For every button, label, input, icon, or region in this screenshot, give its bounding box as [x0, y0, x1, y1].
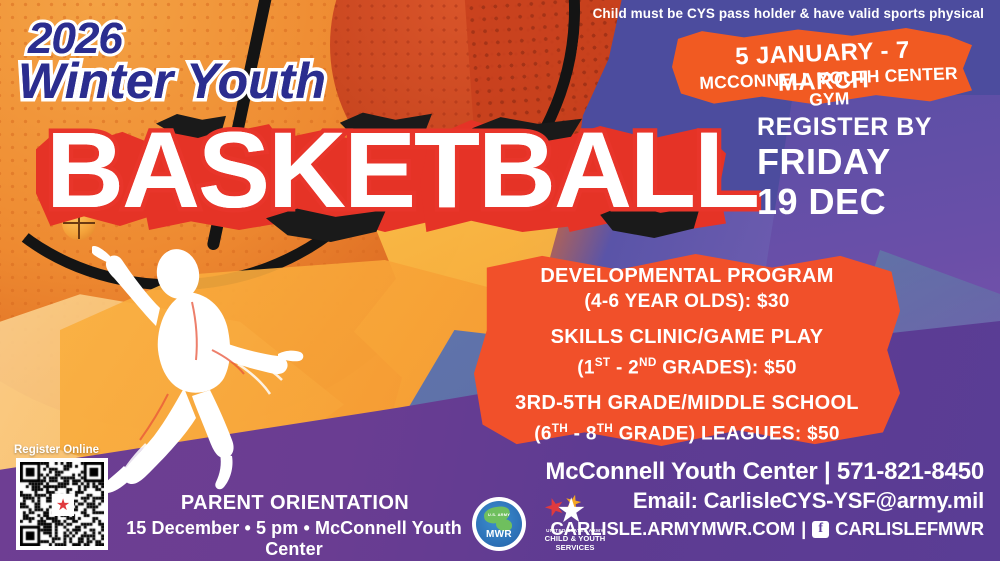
cys-star-icon: ★ — [52, 494, 74, 516]
program-pricing-list: DEVELOPMENTAL PROGRAM (4-6 YEAR OLDS): $… — [474, 264, 900, 447]
parent-orientation-title: PARENT ORIENTATION — [120, 492, 470, 515]
register-by-label: REGISTER BY — [757, 112, 932, 142]
register-by-day: FRIDAY — [757, 142, 932, 182]
contact-email: Email: CarlisleCYS-YSF@army.mil — [633, 488, 984, 514]
contact-center-and-phone: McConnell Youth Center | 571-821-8450 — [545, 458, 984, 486]
contact-web-and-social: CARLISLE.ARMYMWR.COM | f CARLISLEFMWR — [550, 518, 984, 540]
separator: | — [801, 518, 806, 540]
mwr-logo-subtitle: U.S. ARMY — [476, 512, 522, 517]
program-name: 3RD-5TH GRADE/MIDDLE SCHOOL — [474, 391, 900, 416]
parent-orientation-details: 15 December • 5 pm • McConnell Youth Cen… — [104, 518, 484, 560]
program-detail: (6TH - 8TH GRADE) LEAGUES: $50 — [474, 416, 900, 446]
website-url[interactable]: CARLISLE.ARMYMWR.COM — [550, 518, 795, 540]
register-by-block: REGISTER BY FRIDAY 19 DEC — [757, 112, 932, 222]
flyer-season: Winter Youth — [18, 52, 326, 110]
program-detail: (1ST - 2ND GRADES): $50 — [474, 350, 900, 380]
program-detail: (4-6 YEAR OLDS): $30 — [474, 289, 900, 314]
basketball-flyer: BASKETBALL — [0, 0, 1000, 561]
army-mwr-logo: U.S. ARMY MWR — [472, 497, 526, 551]
sport-title: BASKETBALL — [46, 116, 726, 224]
facebook-handle[interactable]: CARLISLEFMWR — [835, 518, 984, 540]
eligibility-notice: Child must be CYS pass holder & have val… — [593, 6, 984, 21]
register-by-date: 19 DEC — [757, 182, 932, 222]
facebook-icon[interactable]: f — [812, 521, 829, 538]
program-name: SKILLS CLINIC/GAME PLAY — [474, 325, 900, 350]
mwr-logo-text: MWR — [476, 529, 522, 540]
program-name: DEVELOPMENTAL PROGRAM — [474, 264, 900, 289]
basketball-player-silhouette — [92, 244, 322, 494]
qr-code-label: Register Online — [14, 444, 99, 456]
